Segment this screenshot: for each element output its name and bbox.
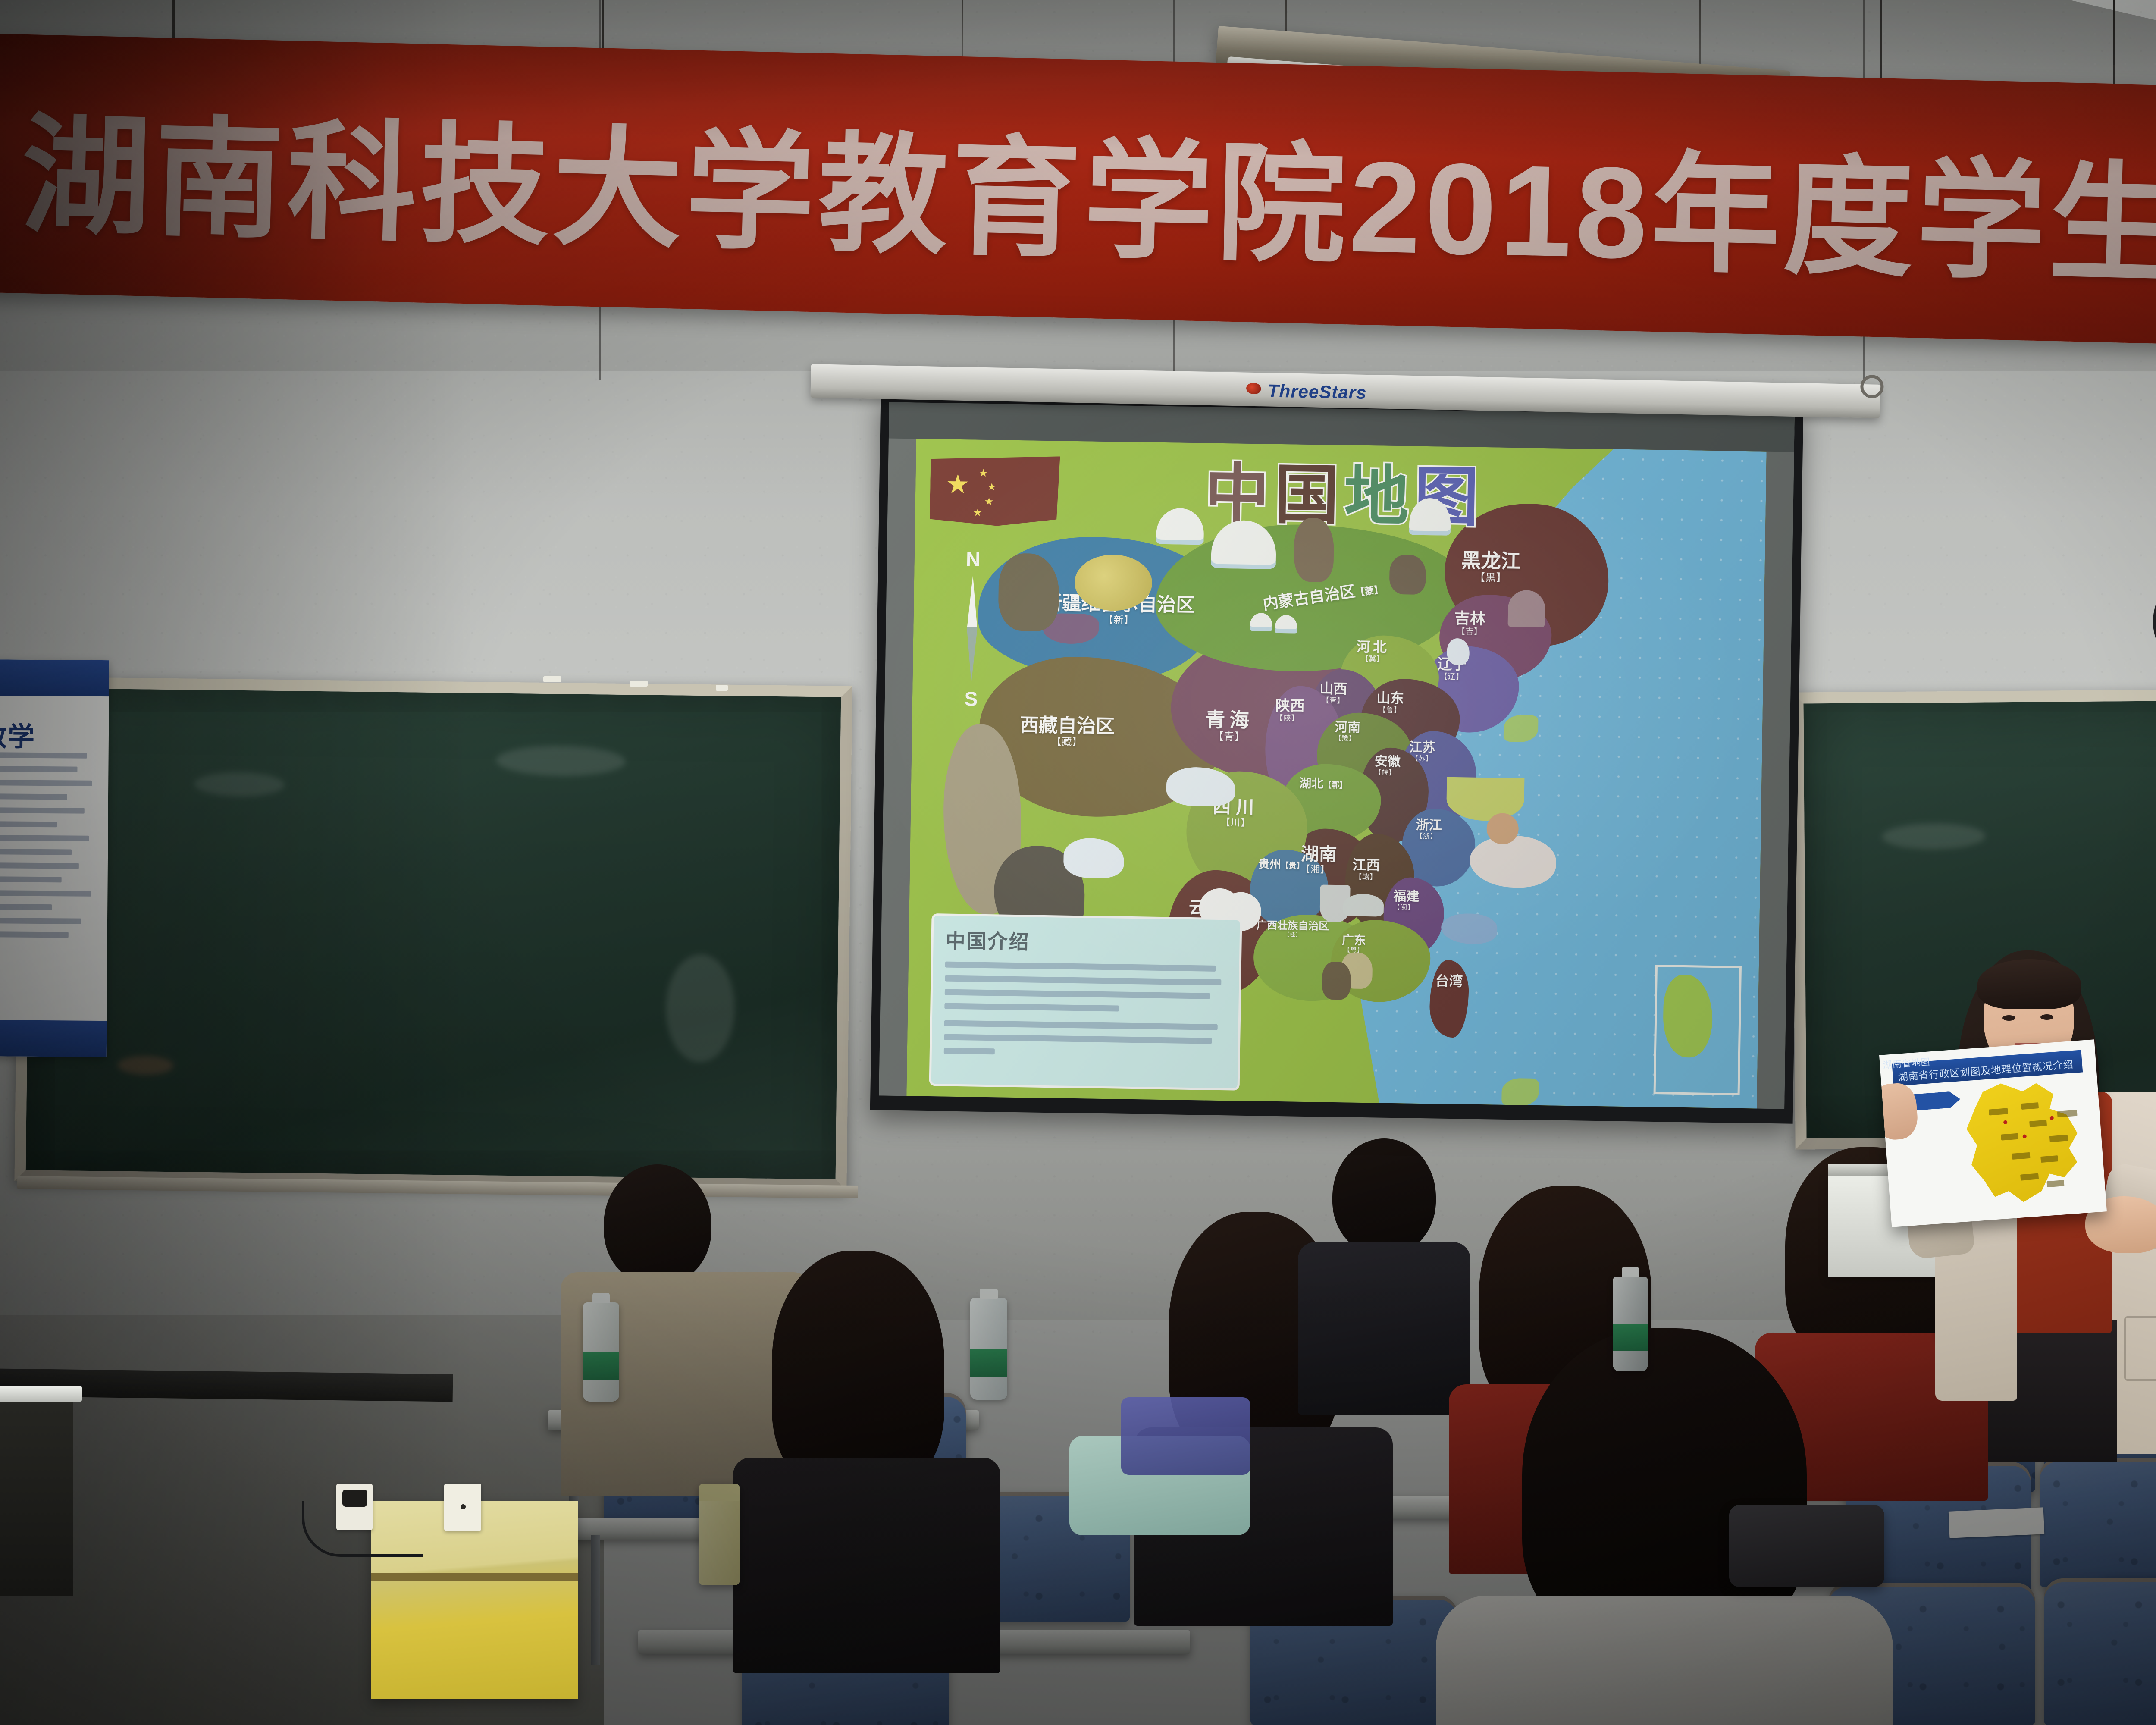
bottle-label (583, 1352, 619, 1380)
city-label (2046, 1180, 2064, 1187)
chalk-smudge (1882, 823, 1985, 850)
fox-icon (1322, 962, 1351, 1000)
province-label-anhui: 安徽【皖】 (1374, 754, 1392, 777)
slide-inset-map (1654, 965, 1742, 1095)
chalkboard-left (14, 677, 852, 1191)
desk-leg (591, 1535, 600, 1665)
city-label (2029, 1120, 2047, 1127)
cardigan-pocket (2124, 1316, 2156, 1381)
poster-body-lines (0, 752, 104, 946)
water-bottle[interactable] (1613, 1276, 1648, 1371)
chalk-piece[interactable] (630, 681, 648, 687)
province-label-jilin: 吉林【吉】 (1454, 610, 1485, 637)
province-label-heilongjiang: 黑龙江【黑】 (1461, 549, 1521, 584)
poster-band-top (0, 659, 109, 696)
head (1332, 1138, 1436, 1255)
thermos-yellow[interactable] (699, 1483, 740, 1585)
head (604, 1164, 711, 1285)
province-label-hebei: 河北【冀】 (1356, 640, 1389, 664)
flag-star-small: ★ (979, 468, 988, 479)
flag-star-large: ★ (946, 471, 970, 498)
body (1436, 1596, 1893, 1725)
city-label (2057, 1110, 2078, 1117)
body (733, 1458, 1000, 1673)
projector-brand-label: ThreeStars (1268, 381, 1367, 403)
table-top (0, 1386, 82, 1402)
hair (772, 1251, 944, 1492)
slide-china-map: ★ ★ ★ ★ ★ N S 中国地图 (906, 439, 1766, 1108)
horse-rider-icon (1389, 555, 1426, 595)
brand-logo-icon (1246, 383, 1261, 395)
crane-icon (1166, 767, 1235, 806)
slide-infobox: 中国介绍 (929, 913, 1242, 1091)
province-label-shaanxi: 陕西【陕】 (1275, 698, 1298, 723)
classroom-photo: 湖南科技大学教育学院2018年度学生讲课比赛 湘 教学 T (0, 0, 2156, 1725)
province-label-jiangxi: 江西【赣】 (1352, 858, 1380, 881)
china-flag-icon: ★ ★ ★ ★ ★ (930, 455, 1060, 530)
poster-band-bottom (0, 1020, 107, 1057)
yurt-icon (1156, 508, 1204, 545)
flag-star-small: ★ (984, 497, 994, 507)
switch-indicator (461, 1504, 466, 1509)
projector-screen[interactable]: ★ ★ ★ ★ ★ N S 中国地图 (870, 394, 1803, 1124)
province-label-zhejiang: 浙江【浙】 (1416, 818, 1433, 841)
banner-title: 湖南科技大学教育学院2018年度学生讲课比赛 (20, 110, 2156, 301)
presenter-bangs (1977, 959, 2081, 1009)
water-bottle[interactable] (970, 1298, 1007, 1400)
province-label-fujian: 福建【闽】 (1393, 889, 1410, 912)
power-plug[interactable] (342, 1490, 367, 1507)
infobox-title: 中国介绍 (945, 925, 1228, 958)
compass-rose-icon: N S (957, 547, 987, 711)
province-label-taiwan: 台湾 (1435, 973, 1454, 989)
light-switch[interactable] (444, 1483, 481, 1531)
water-bottle[interactable] (583, 1302, 619, 1402)
yak-icon (1063, 838, 1124, 878)
jellyfish-icon (1508, 590, 1545, 627)
compass-north-label: N (959, 547, 987, 571)
province-label-qinghai: 青海【青】 (1205, 709, 1254, 743)
wall-poster-left: 教学 (0, 659, 109, 1057)
flag-star-small: ★ (987, 482, 997, 492)
chalk-smudge (665, 954, 736, 1063)
compass-south-label: S (957, 687, 985, 711)
presenter: 湖南省行政区划图及地理位置概况介绍 湖南省地图 (1846, 940, 2156, 1458)
bottle-cap (592, 1293, 610, 1303)
seat[interactable] (2040, 1458, 2156, 1587)
province-label-hubei: 湖北【鄂】 (1299, 777, 1347, 791)
chalk-piece[interactable] (716, 685, 728, 691)
province-label-guangdong: 广东【粤】 (1341, 933, 1366, 954)
wall-mounted-fan[interactable] (2143, 522, 2156, 690)
patterned-bag (1121, 1397, 1250, 1475)
city-label (2021, 1102, 2039, 1110)
side-table-left (0, 1397, 73, 1596)
herder-figure-icon (1294, 517, 1334, 582)
chalk-smudge (117, 1056, 173, 1075)
audience-front-left-dark (724, 1251, 1009, 1682)
poster-title: 教学 (0, 715, 35, 754)
compass-needle (966, 575, 978, 683)
city-label (2001, 1133, 2018, 1141)
province-label-jiangsu: 江苏【苏】 (1409, 740, 1435, 762)
province-label-guangxi: 广西壮族自治区【桂】 (1257, 920, 1329, 938)
bottle-label (970, 1349, 1007, 1377)
bottle-cap (980, 1289, 997, 1299)
held-hunan-map-poster[interactable]: 湖南省行政区划图及地理位置概况介绍 湖南省地图 (1879, 1039, 2107, 1227)
presenter-eye (2040, 1014, 2053, 1020)
bottle-label (1613, 1324, 1648, 1351)
chalk-smudge (496, 745, 626, 777)
province-label-shandong: 山东【鲁】 (1376, 690, 1404, 714)
hunan-province-shape (1961, 1078, 2087, 1206)
chalk-piece[interactable] (543, 676, 561, 682)
city-label (2040, 1155, 2058, 1163)
flag-star-small: ★ (973, 508, 982, 518)
bridge-icon (1343, 894, 1384, 916)
seat[interactable] (2044, 1578, 2156, 1725)
screen-surface: ★ ★ ★ ★ ★ N S 中国地图 (879, 402, 1795, 1109)
thermos-lid (699, 1483, 740, 1501)
fish-icon (1501, 1078, 1539, 1106)
presenter-eye (2002, 1015, 2015, 1021)
seat-name-card (1949, 1507, 2044, 1538)
province-label-guizhou: 贵州【贵】 (1258, 858, 1304, 871)
bottle-cap (1622, 1267, 1639, 1277)
presenter-hand-left (1879, 1082, 1919, 1141)
province-label-henan: 河南【豫】 (1335, 720, 1353, 743)
uyghur-dancer-icon (998, 553, 1059, 631)
province-label-shanxi: 山西【晋】 (1319, 681, 1347, 705)
backpack-on-desk[interactable] (1729, 1505, 1884, 1587)
province-label-tibet: 西藏自治区【藏】 (1019, 715, 1115, 748)
chalk-smudge (194, 772, 285, 797)
step-edge (371, 1573, 578, 1581)
power-outlet[interactable] (336, 1483, 373, 1530)
